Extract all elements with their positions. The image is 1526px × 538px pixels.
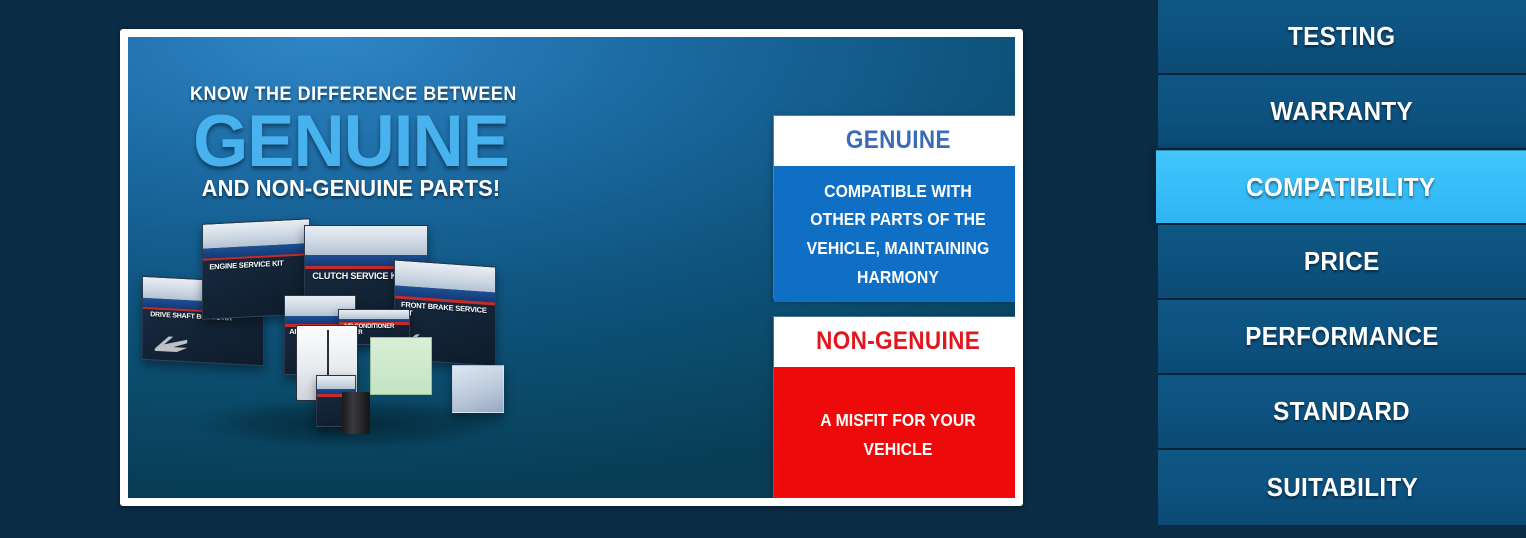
- card-non-genuine: NON-GENUINE A MISFIT FOR YOUR VEHICLE: [773, 316, 1015, 498]
- sidebar-menu: TESTINGWARRANTYCOMPATIBILITYPRICEPERFORM…: [1158, 0, 1526, 538]
- oil-filter-canister: [342, 392, 370, 434]
- slide-viewer: KNOW THE DIFFERENCE BETWEEN GENUINE AND …: [0, 0, 1526, 538]
- sidebar-item-price[interactable]: PRICE: [1158, 225, 1526, 300]
- sidebar-item-label: COMPATIBILITY: [1246, 172, 1435, 203]
- card-non-genuine-title-text: NON-GENUINE: [816, 329, 980, 354]
- parts-box-far-right: [452, 365, 504, 413]
- box-cap: [317, 376, 355, 389]
- suzuki-parts-photo: DRIVE SHAFT BOOTS KIT ENGINE SERVICE KIT: [138, 217, 558, 498]
- sidebar-item-warranty[interactable]: WARRANTY: [1158, 75, 1526, 150]
- sidebar-item-label: TESTING: [1288, 21, 1395, 52]
- card-non-genuine-body-text: A MISFIT FOR YOUR VEHICLE: [799, 406, 997, 463]
- card-genuine-title-text: GENUINE: [845, 128, 950, 153]
- card-genuine: GENUINE COMPATIBLE WITH OTHER PARTS OF T…: [773, 115, 1015, 299]
- sidebar-item-performance[interactable]: PERFORMANCE: [1158, 300, 1526, 375]
- sidebar-item-label: PRICE: [1304, 246, 1380, 277]
- sidebar-item-label: PERFORMANCE: [1245, 321, 1439, 352]
- sidebar-item-compatibility[interactable]: COMPATIBILITY: [1156, 150, 1526, 225]
- sidebar-item-label: SUITABILITY: [1266, 472, 1417, 503]
- card-genuine-body: COMPATIBLE WITH OTHER PARTS OF THE VEHIC…: [774, 166, 1015, 302]
- sidebar-item-standard[interactable]: STANDARD: [1158, 375, 1526, 450]
- sidebar-item-testing[interactable]: TESTING: [1158, 0, 1526, 75]
- headline-genuine-word: GENUINE: [181, 108, 521, 175]
- slide-frame: KNOW THE DIFFERENCE BETWEEN GENUINE AND …: [120, 29, 1023, 506]
- cabin-air-filter-element: [370, 337, 432, 395]
- box-cap: [305, 226, 427, 255]
- headline-bottom-line: AND NON-GENUINE PARTS!: [188, 177, 514, 201]
- slide-content: KNOW THE DIFFERENCE BETWEEN GENUINE AND …: [128, 37, 1015, 498]
- suzuki-s-icon: [153, 333, 189, 355]
- sidebar-item-suitability[interactable]: SUITABILITY: [1158, 450, 1526, 525]
- card-non-genuine-title: NON-GENUINE: [774, 317, 1015, 367]
- headline-block: KNOW THE DIFFERENCE BETWEEN GENUINE AND …: [176, 85, 526, 200]
- box-label: FRONT BRAKE SERVICE KIT: [401, 301, 491, 323]
- card-genuine-body-text: COMPATIBLE WITH OTHER PARTS OF THE VEHIC…: [799, 177, 997, 291]
- card-non-genuine-body: A MISFIT FOR YOUR VEHICLE: [774, 367, 1015, 498]
- card-genuine-title: GENUINE: [774, 116, 1015, 166]
- box-cap: [339, 310, 409, 319]
- sidebar-item-label: STANDARD: [1274, 396, 1411, 427]
- sidebar-item-label: WARRANTY: [1271, 96, 1414, 127]
